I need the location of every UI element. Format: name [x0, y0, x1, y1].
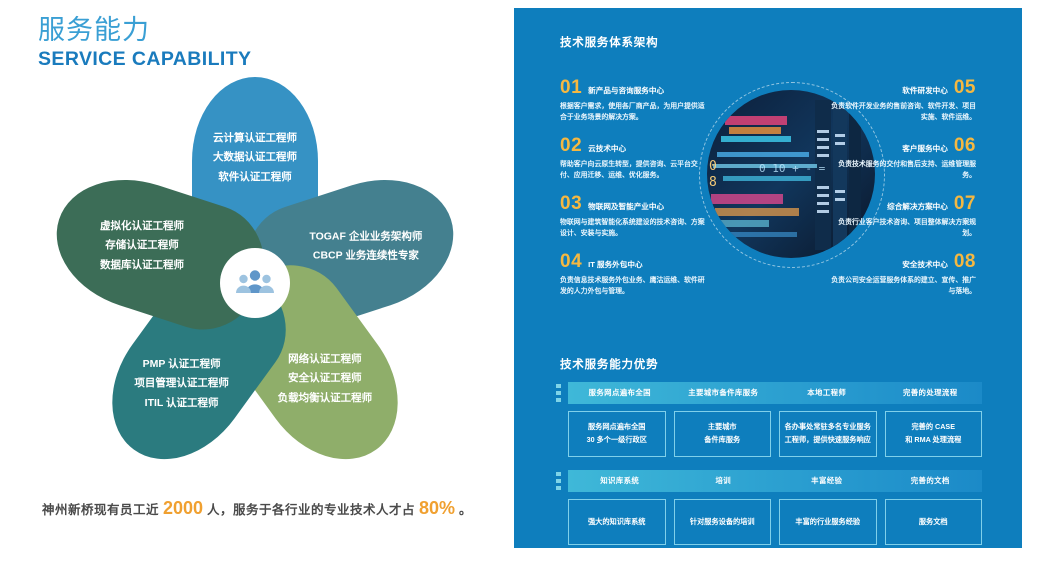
- caption-part3: 。: [459, 503, 472, 517]
- advantage-table-2-body: 强大的知识库系统 针对服务设备的培训 丰富的行业服务经验 服务文档: [568, 499, 982, 545]
- table-cell: 强大的知识库系统: [568, 499, 666, 545]
- table-header-cell: 知识库系统: [568, 470, 672, 492]
- table-cell: 各办事处常驻多名专业服务 工程师，提供快速服务响应: [779, 411, 877, 457]
- petal-line: 大数据认证工程师: [140, 148, 370, 167]
- cell-line: 服务网点遍布全国: [588, 421, 646, 434]
- cell-line: 工程师，提供快速服务响应: [785, 434, 871, 447]
- section-title-advantages: 技术服务能力优势: [560, 356, 658, 372]
- petal-line: 项目管理认证工程师: [67, 374, 297, 393]
- arch-item-06-title: 客户服务中心: [902, 143, 948, 154]
- petal-line: 存储认证工程师: [27, 237, 257, 256]
- arch-item-06-desc: 负责技术服务的交付和售后支持、运维管理服务。: [826, 159, 976, 182]
- table-cell: 主要城市 备件库服务: [674, 411, 772, 457]
- table-cell: 服务网点遍布全国 30 多个一级行政区: [568, 411, 666, 457]
- table-header-cell: 丰富经验: [775, 470, 879, 492]
- page-title-en: SERVICE CAPABILITY: [38, 48, 251, 71]
- petal-togaf-text: TOGAF 企业业务架构师 CBCP 业务连续性专家: [251, 228, 481, 267]
- left-section: 服务能力 SERVICE CAPABILITY 云计算认证工程师 大数据认证工程…: [0, 0, 514, 576]
- svg-text:8: 8: [709, 175, 717, 190]
- people-group-icon: [235, 268, 275, 298]
- arch-item-01[interactable]: 01 新产品与咨询服务中心 根据客户需求，使用各厂商产品，为用户提供适合于业务场…: [560, 78, 710, 124]
- advantage-table-1-header: 服务网点遍布全国 主要城市备件库服务 本地工程师 完善的处理流程: [568, 382, 982, 404]
- arch-item-02-title: 云技术中心: [588, 143, 626, 154]
- arch-item-07[interactable]: 综合解决方案中心 07 负责行业客户技术咨询、项目整体解决方案规划。: [826, 194, 976, 240]
- table-header-cell: 本地工程师: [775, 382, 879, 404]
- petal-line: ITIL 认证工程师: [67, 394, 297, 413]
- service-system-panel: 技术服务体系架构: [514, 8, 1022, 548]
- arch-item-07-number: 07: [954, 194, 976, 213]
- caption-part1: 神州新桥现有员工近: [42, 503, 159, 517]
- cell-line: 备件库服务: [704, 434, 740, 447]
- cell-line: 丰富的行业服务经验: [795, 516, 860, 529]
- arch-item-03-number: 03: [560, 194, 582, 213]
- petal-line: CBCP 业务连续性专家: [251, 247, 481, 266]
- cell-line: 30 多个一级行政区: [587, 434, 647, 447]
- table-header-cell: 主要城市备件库服务: [672, 382, 776, 404]
- arch-item-06-number: 06: [954, 136, 976, 155]
- arch-item-01-number: 01: [560, 78, 582, 97]
- arch-item-07-title: 综合解决方案中心: [887, 201, 948, 212]
- advantage-table-1-body: 服务网点遍布全国 30 多个一级行政区 主要城市 备件库服务 各办事处常驻多名专…: [568, 411, 982, 457]
- arch-item-02-desc: 帮助客户向云原生转型，提供咨询、云平台交付、应用迁移、运维、优化服务。: [560, 159, 710, 182]
- svg-text:0: 0: [709, 159, 717, 174]
- advantage-table-1: 服务网点遍布全国 主要城市备件库服务 本地工程师 完善的处理流程 服务网点遍布全…: [554, 382, 982, 457]
- petal-virtualization-text: 虚拟化认证工程师 存储认证工程师 数据库认证工程师: [27, 217, 257, 275]
- arch-item-05-title: 软件研发中心: [902, 85, 948, 96]
- arch-item-07-desc: 负责行业客户技术咨询、项目整体解决方案规划。: [826, 217, 976, 240]
- slide-root: 服务能力 SERVICE CAPABILITY 云计算认证工程师 大数据认证工程…: [0, 0, 1041, 576]
- cell-line: 强大的知识库系统: [588, 516, 646, 529]
- arch-item-08-desc: 负责公司安全运营服务体系的建立、宣传、推广与落地。: [826, 275, 976, 298]
- employee-caption: 神州新桥现有员工近 2000 人，服务于各行业的专业技术人才占 80% 。: [0, 498, 514, 519]
- table-cell: 服务文档: [885, 499, 983, 545]
- table-header-cell: 服务网点遍布全国: [568, 382, 672, 404]
- arch-item-01-title: 新产品与咨询服务中心: [588, 85, 664, 96]
- table-header-cell: 培训: [672, 470, 776, 492]
- arch-item-05-number: 05: [954, 78, 976, 97]
- cell-line: 完善的 CASE: [911, 421, 955, 434]
- arch-item-05[interactable]: 软件研发中心 05 负责软件开发业务的售前咨询、软件开发、项目实施、软件运维。: [826, 78, 976, 124]
- arch-item-04-number: 04: [560, 252, 582, 271]
- arch-item-03-desc: 物联网与建筑智能化系统建设的技术咨询、方案设计、安装与实施。: [560, 217, 710, 240]
- cell-line: 服务文档: [919, 516, 948, 529]
- table-header-cell: 完善的处理流程: [879, 382, 983, 404]
- caption-part2: 人，服务于各行业的专业技术人才占: [207, 503, 415, 517]
- capability-flower-diagram: 云计算认证工程师 大数据认证工程师 软件认证工程师 TOGAF 企业业务架构师 …: [20, 88, 490, 478]
- petal-line: 软件认证工程师: [140, 168, 370, 187]
- advantage-table-2: 知识库系统 培训 丰富经验 完善的文档 强大的知识库系统 针对服务设备的培训 丰…: [554, 470, 982, 545]
- cell-line: 主要城市: [708, 421, 737, 434]
- table-cell: 完善的 CASE 和 RMA 处理流程: [885, 411, 983, 457]
- table-cell: 针对服务设备的培训: [674, 499, 772, 545]
- cell-line: 针对服务设备的培训: [690, 516, 755, 529]
- arch-item-06[interactable]: 客户服务中心 06 负责技术服务的交付和售后支持、运维管理服务。: [826, 136, 976, 182]
- arch-item-02-number: 02: [560, 136, 582, 155]
- petal-line: 云计算认证工程师: [140, 129, 370, 148]
- table-header-cell: 完善的文档: [879, 470, 983, 492]
- arch-item-08-title: 安全技术中心: [902, 259, 948, 270]
- svg-text:0 10 + - =: 0 10 + - =: [759, 162, 826, 175]
- arch-item-08[interactable]: 安全技术中心 08 负责公司安全运营服务体系的建立、宣传、推广与落地。: [826, 252, 976, 298]
- page-title-cn: 服务能力: [38, 16, 150, 46]
- arch-item-03-title: 物联网及智能产业中心: [588, 201, 664, 212]
- header-dots-icon: [556, 472, 565, 490]
- arch-item-02[interactable]: 02 云技术中心 帮助客户向云原生转型，提供咨询、云平台交付、应用迁移、运维、优…: [560, 136, 710, 182]
- arch-item-03[interactable]: 03 物联网及智能产业中心 物联网与建筑智能化系统建设的技术咨询、方案设计、安装…: [560, 194, 710, 240]
- caption-number-percent: 80%: [419, 498, 455, 518]
- petal-cloud-text: 云计算认证工程师 大数据认证工程师 软件认证工程师: [140, 129, 370, 187]
- petal-pmp-text: PMP 认证工程师 项目管理认证工程师 ITIL 认证工程师: [67, 355, 297, 413]
- arch-item-05-desc: 负责软件开发业务的售前咨询、软件开发、项目实施、软件运维。: [826, 101, 976, 124]
- arch-item-01-desc: 根据客户需求，使用各厂商产品，为用户提供适合于业务场景的解决方案。: [560, 101, 710, 124]
- advantage-table-2-header: 知识库系统 培训 丰富经验 完善的文档: [568, 470, 982, 492]
- petal-line: PMP 认证工程师: [67, 355, 297, 374]
- arch-item-04[interactable]: 04 IT 服务外包中心 负责信息技术服务外包业务、鹰沽运维、软件研发的人力外包…: [560, 252, 710, 298]
- cell-line: 和 RMA 处理流程: [905, 434, 961, 447]
- header-dots-icon: [556, 384, 565, 402]
- petal-line: 虚拟化认证工程师: [27, 217, 257, 236]
- petal-line: TOGAF 企业业务架构师: [251, 228, 481, 247]
- table-cell: 丰富的行业服务经验: [779, 499, 877, 545]
- caption-number-employees: 2000: [163, 498, 203, 518]
- section-title-architecture: 技术服务体系架构: [560, 34, 658, 50]
- arch-item-08-number: 08: [954, 252, 976, 271]
- flower-hub: [220, 248, 290, 318]
- arch-item-04-title: IT 服务外包中心: [588, 259, 642, 270]
- cell-line: 各办事处常驻多名专业服务: [785, 421, 871, 434]
- arch-item-04-desc: 负责信息技术服务外包业务、鹰沽运维、软件研发的人力外包与管理。: [560, 275, 710, 298]
